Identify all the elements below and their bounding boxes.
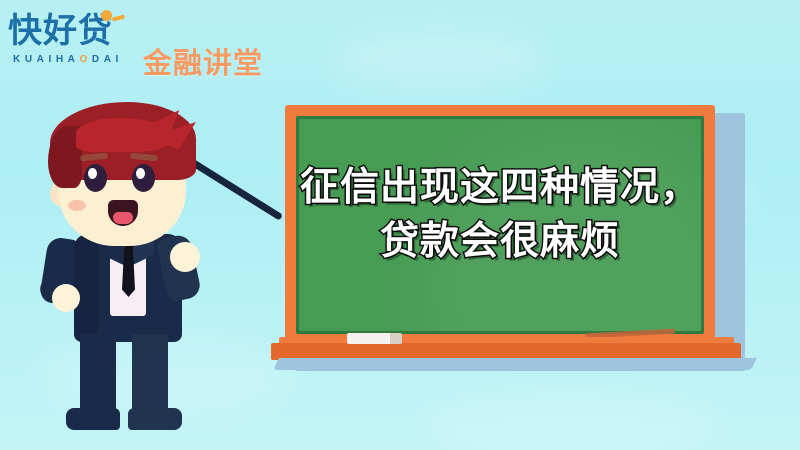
background-blob xyxy=(420,390,720,450)
logo-pinyin: KUAIHAODAI xyxy=(13,54,123,65)
cheek-blush xyxy=(68,200,86,211)
logo-pinyin-pre: KUAIHA xyxy=(13,54,80,65)
headline-line-1: 征信出现这四种情况， xyxy=(299,161,701,215)
logo-accent-stroke-icon xyxy=(112,14,126,21)
chalk-tray-shadow xyxy=(273,358,757,370)
pointer-stick-icon xyxy=(186,157,283,221)
tongue xyxy=(113,212,133,224)
blackboard-headline: 征信出现这四种情况， 贷款会很麻烦 xyxy=(299,161,701,269)
headline-line-2: 贷款会很麻烦 xyxy=(299,215,701,269)
video-frame: 快好贷 KUAIHAODAI 金融讲堂 xyxy=(0,0,800,450)
torso-shade xyxy=(74,234,98,342)
right-hand xyxy=(170,242,200,272)
logo-chinese-text: 快好贷 xyxy=(8,14,113,48)
eye-left-highlight xyxy=(88,168,97,179)
left-shoe xyxy=(66,408,120,430)
eye-right xyxy=(132,164,155,192)
blackboard: 征信出现这四种情况， 贷款会很麻烦 xyxy=(285,105,735,360)
brand-logo: 快好贷 KUAIHAODAI 金融讲堂 xyxy=(8,14,278,76)
eye-left xyxy=(84,164,107,192)
background-blob xyxy=(330,30,550,90)
left-hand xyxy=(52,284,80,312)
necktie xyxy=(122,243,135,297)
eraser-cap-icon xyxy=(390,333,402,344)
logo-accent-dot-icon xyxy=(101,10,112,21)
logo-wordmark: 快好贷 xyxy=(8,14,113,48)
right-leg xyxy=(132,334,168,418)
right-shoe xyxy=(128,408,182,430)
eye-right-highlight xyxy=(136,168,145,179)
eraser-icon xyxy=(347,333,395,344)
logo-pinyin-o: O xyxy=(80,54,92,65)
left-leg xyxy=(80,334,116,418)
logo-tagline: 金融讲堂 xyxy=(143,40,263,82)
logo-pinyin-post: DAI xyxy=(92,54,123,65)
teacher-character xyxy=(22,96,272,450)
